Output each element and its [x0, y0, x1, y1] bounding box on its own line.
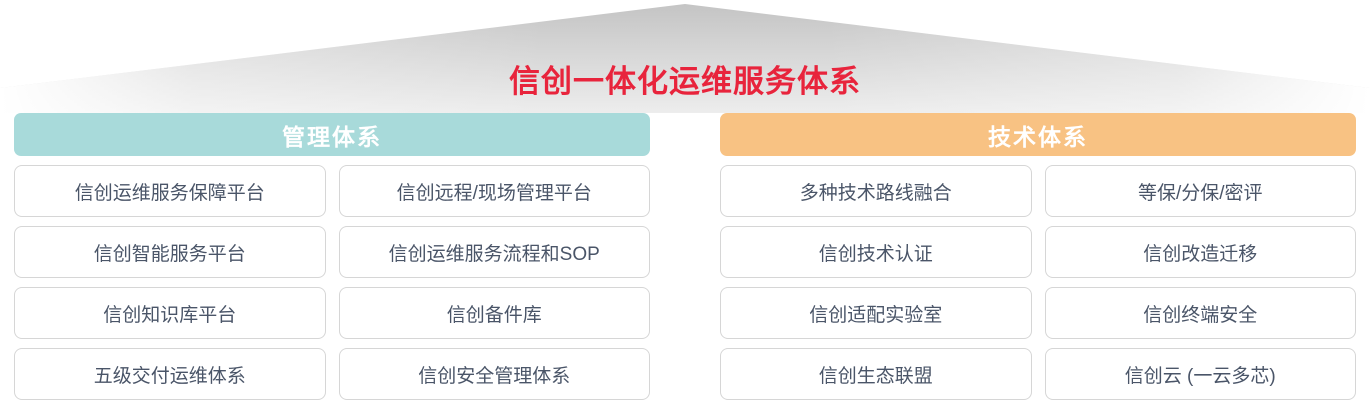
- group-header-management: 管理体系: [14, 113, 650, 156]
- grid-management: 信创运维服务保障平台 信创远程/现场管理平台 信创智能服务平台 信创运维服务流程…: [14, 165, 650, 400]
- cell-management-1[interactable]: 信创运维服务保障平台: [14, 165, 326, 217]
- group-header-technology: 技术体系: [720, 113, 1356, 156]
- cell-management-8[interactable]: 信创安全管理体系: [339, 348, 651, 400]
- cell-management-5[interactable]: 信创知识库平台: [14, 287, 326, 339]
- cell-technology-4[interactable]: 信创改造迁移: [1045, 226, 1357, 278]
- groups-container: 管理体系 信创运维服务保障平台 信创远程/现场管理平台 信创智能服务平台 信创运…: [0, 113, 1370, 400]
- cell-technology-8[interactable]: 信创云 (一云多芯): [1045, 348, 1357, 400]
- cell-technology-7[interactable]: 信创生态联盟: [720, 348, 1032, 400]
- cell-management-6[interactable]: 信创备件库: [339, 287, 651, 339]
- cell-technology-6[interactable]: 信创终端安全: [1045, 287, 1357, 339]
- cell-technology-5[interactable]: 信创适配实验室: [720, 287, 1032, 339]
- cell-technology-3[interactable]: 信创技术认证: [720, 226, 1032, 278]
- cell-management-2[interactable]: 信创远程/现场管理平台: [339, 165, 651, 217]
- cell-management-4[interactable]: 信创运维服务流程和SOP: [339, 226, 651, 278]
- cell-management-7[interactable]: 五级交付运维体系: [14, 348, 326, 400]
- page-title: 信创一体化运维服务体系: [0, 56, 1370, 101]
- grid-technology: 多种技术路线融合 等保/分保/密评 信创技术认证 信创改造迁移 信创适配实验室 …: [720, 165, 1356, 400]
- cell-management-3[interactable]: 信创智能服务平台: [14, 226, 326, 278]
- group-management: 管理体系 信创运维服务保障平台 信创远程/现场管理平台 信创智能服务平台 信创运…: [14, 113, 650, 400]
- group-technology: 技术体系 多种技术路线融合 等保/分保/密评 信创技术认证 信创改造迁移 信创适…: [720, 113, 1356, 400]
- cell-technology-1[interactable]: 多种技术路线融合: [720, 165, 1032, 217]
- diagram-canvas: 信创一体化运维服务体系 管理体系 信创运维服务保障平台 信创远程/现场管理平台 …: [0, 0, 1370, 418]
- cell-technology-2[interactable]: 等保/分保/密评: [1045, 165, 1357, 217]
